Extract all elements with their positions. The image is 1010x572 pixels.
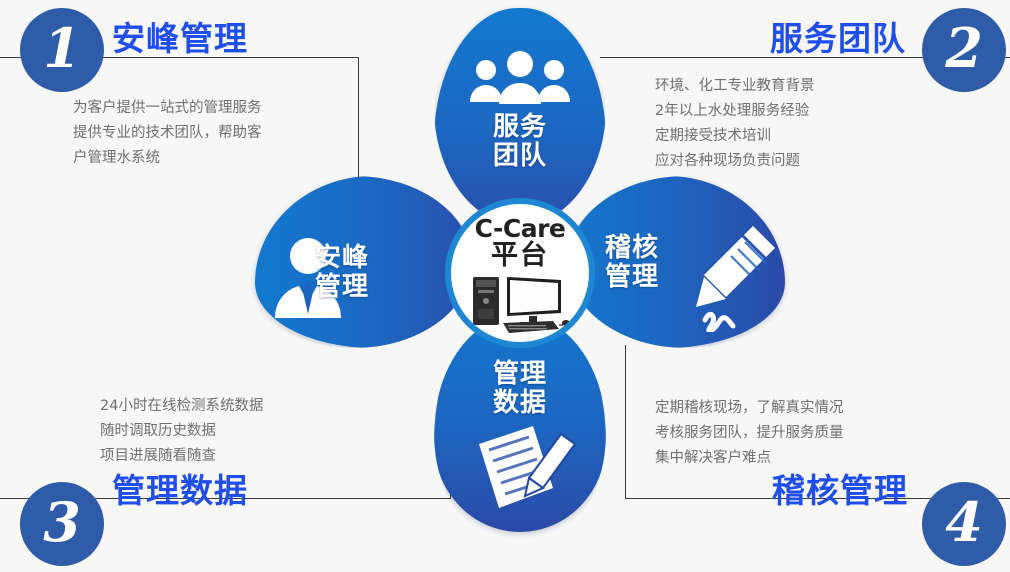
quadrant-3-title: 管理数据 [112, 474, 248, 507]
petal-anfeng-management-label: 安峰 管理 [315, 244, 435, 302]
quadrant-1-title: 安峰管理 [112, 22, 248, 55]
clipboard-pencil-icon [475, 420, 583, 512]
number-badge-2-value: 2 [945, 21, 983, 75]
petal-label-line: 管理 [315, 273, 435, 302]
petal-label-line: 安峰 [315, 244, 435, 273]
quadrant-3-description: 24小时在线检测系统数据 随时调取历史数据 项目进展随看随查 [100, 394, 263, 469]
quadrant-1-line: 为客户提供一站式的管理服务 [73, 96, 262, 121]
quadrant-1-line: 提供专业的技术团队，帮助客 [73, 121, 262, 146]
quadrant-3-line: 项目进展随看随查 [100, 444, 263, 469]
petal-label-line: 服务 [454, 113, 586, 142]
quadrant-2-title: 服务团队 [770, 22, 906, 55]
petal-label-line: 数据 [454, 389, 586, 418]
petal-service-team-label: 服务 团队 [454, 113, 586, 171]
quadrant-3-line: 24小时在线检测系统数据 [100, 394, 263, 419]
people-group-icon [468, 50, 572, 106]
quadrant-3-line: 随时调取历史数据 [100, 419, 263, 444]
petal-label-line: 团队 [454, 142, 586, 171]
number-badge-3-value: 3 [43, 495, 81, 549]
number-badge-3: 3 [20, 482, 104, 566]
number-badge-1: 1 [20, 8, 104, 92]
infographic-canvas: 1 2 3 4 安峰管理 服务团队 管理数据 稽核管理 为客户提供一站式的管理服… [0, 0, 1010, 572]
hub-title: C-Care [475, 216, 566, 242]
quadrant-4-title: 稽核管理 [772, 474, 908, 507]
number-badge-1-value: 1 [43, 21, 81, 75]
hub-subtitle: 平台 [491, 242, 549, 270]
number-badge-4-value: 4 [945, 495, 983, 549]
petal-audit-management-label: 稽核 管理 [605, 234, 725, 292]
flower-diagram: 服务 团队 稽核 管理 管理 数据 安峰 管理 C-Care 平台 [255, 8, 785, 528]
number-badge-2: 2 [922, 8, 1006, 92]
number-badge-4: 4 [922, 482, 1006, 566]
center-hub[interactable]: C-Care 平台 [445, 198, 595, 348]
petal-label-line: 管理 [605, 263, 725, 292]
quadrant-1-line: 户管理水系统 [73, 146, 262, 171]
petal-label-line: 稽核 [605, 234, 725, 263]
petal-label-line: 管理 [454, 360, 586, 389]
quadrant-1-description: 为客户提供一站式的管理服务 提供专业的技术团队，帮助客 户管理水系统 [73, 96, 262, 171]
petal-management-data-label: 管理 数据 [454, 360, 586, 418]
desktop-computer-icon [465, 271, 575, 333]
